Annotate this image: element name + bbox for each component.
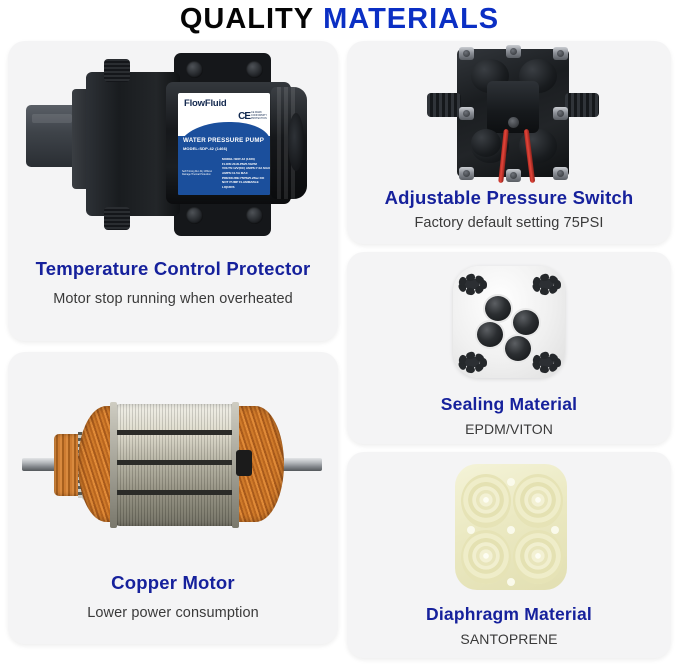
diaphragm-nub <box>551 526 559 534</box>
seal-corner-pattern <box>455 272 489 296</box>
ce-mark-icon: CE <box>238 111 250 122</box>
core-slot <box>114 460 238 465</box>
feature-card-temperature-control-protector: FlowFluid CE CE MARK CONFORMITY PROTECTI… <box>8 41 338 341</box>
switch-screw-icon <box>459 47 474 60</box>
diaphragm-chamber <box>461 474 511 528</box>
seal-corner-pattern <box>529 272 563 296</box>
label-product-title: WATER PRESSURE PUMP <box>183 137 264 144</box>
switch-screw-icon <box>553 167 568 180</box>
motor-armature-illustration <box>22 392 322 542</box>
pressure-switch-illustration <box>427 45 597 183</box>
pump-bolt-icon <box>186 61 203 78</box>
diaphragm-chamber <box>513 474 563 528</box>
label-spec-list: MODEL:SDP-42 (1466) FLOW:20.8LPM/5.5GPM … <box>222 157 270 189</box>
core-end-plate <box>110 402 117 528</box>
switch-screw-icon <box>506 169 521 182</box>
pump-product-label: FlowFluid CE CE MARK CONFORMITY PROTECTI… <box>178 93 270 195</box>
title-word-quality: QUALITY <box>180 5 314 34</box>
title-word-materials: MATERIALS <box>323 5 499 34</box>
switch-outlet-nozzle <box>565 93 599 117</box>
switch-screw-icon <box>553 47 568 60</box>
card-subtext: Motor stop running when overheated <box>8 291 338 307</box>
card-subtext: Lower power consumption <box>8 605 338 621</box>
feature-card-diaphragm-material: Diaphragm Material SANTOPRENE <box>347 452 671 658</box>
valve-seal-illustration <box>439 258 579 388</box>
card-heading: Copper Motor <box>8 572 338 594</box>
core-slot <box>114 490 238 495</box>
switch-screw-icon <box>506 45 521 58</box>
valve-cap <box>475 320 505 349</box>
switch-screw-icon <box>459 107 474 120</box>
label-brand-name: FlowFluid <box>184 98 227 109</box>
pump-bolt-icon <box>186 207 203 224</box>
pump-inlet-port <box>104 59 130 82</box>
label-cert-text: CE MARK CONFORMITY PROTECTION <box>251 111 268 121</box>
switch-screw-icon <box>459 167 474 180</box>
pump-bolt-icon <box>246 61 263 78</box>
switch-cover-plate <box>487 81 539 133</box>
laminated-core <box>114 404 238 526</box>
card-subtext: SANTOPRENE <box>347 631 671 647</box>
card-caption: Sealing Material EPDM/VITON <box>347 392 671 444</box>
pump-image: FlowFluid CE CE MARK CONFORMITY PROTECTI… <box>8 41 338 246</box>
pump-outlet-port <box>104 207 130 230</box>
pump-bolt-icon <box>246 207 263 224</box>
armature-bearing-nub <box>236 450 252 476</box>
card-caption: Adjustable Pressure Switch Factory defau… <box>347 184 671 244</box>
switch-screw-icon <box>553 107 568 120</box>
pressure-switch-image <box>347 41 671 184</box>
label-model-line: MODEL:SDP-42 (1466) <box>183 146 227 151</box>
feature-card-copper-motor: Copper Motor Lower power consumption <box>8 352 338 644</box>
card-caption: Copper Motor Lower power consumption <box>8 566 338 644</box>
diaphragm-image <box>347 452 671 602</box>
diaphragm-nub <box>507 578 515 586</box>
sealing-material-image <box>347 252 671 392</box>
diaphragm-illustration <box>451 460 571 596</box>
diaphragm-nub <box>467 526 475 534</box>
switch-pressure-adjust-knob <box>471 129 501 157</box>
valve-cap <box>511 308 541 337</box>
page-title: QUALITY MATERIALS <box>0 0 679 38</box>
switch-inlet-nozzle <box>427 93 461 117</box>
card-heading: Adjustable Pressure Switch <box>347 187 671 209</box>
seal-corner-pattern <box>455 350 489 374</box>
seal-corner-pattern <box>529 350 563 374</box>
card-heading: Sealing Material <box>347 394 671 415</box>
valve-cap <box>503 334 533 363</box>
card-caption: Temperature Control Protector Motor stop… <box>8 246 338 341</box>
card-caption: Diaphragm Material SANTOPRENE <box>347 602 671 658</box>
diaphragm-nub <box>507 478 515 486</box>
end-cap-ring <box>284 87 288 199</box>
water-pressure-pump-illustration: FlowFluid CE CE MARK CONFORMITY PROTECTI… <box>26 49 321 239</box>
card-subtext: EPDM/VITON <box>347 421 671 437</box>
core-slot <box>114 430 238 435</box>
pump-end-cap <box>271 87 307 199</box>
valve-cap <box>483 294 513 323</box>
feature-card-adjustable-pressure-switch: Adjustable Pressure Switch Factory defau… <box>347 41 671 244</box>
feature-card-sealing-material: Sealing Material EPDM/VITON <box>347 252 671 444</box>
end-cap-ring <box>291 87 295 199</box>
diaphragm-chamber <box>461 530 511 584</box>
card-heading: Diaphragm Material <box>347 604 671 625</box>
end-cap-ring <box>277 87 281 199</box>
card-heading: Temperature Control Protector <box>8 258 338 280</box>
label-fine-print: Self Priming Run Dry Without Damage Ther… <box>182 171 216 178</box>
copper-motor-image <box>8 364 338 569</box>
card-subtext: Factory default setting 75PSI <box>347 215 671 231</box>
diaphragm-nub <box>507 526 515 534</box>
diaphragm-chamber <box>513 530 563 584</box>
